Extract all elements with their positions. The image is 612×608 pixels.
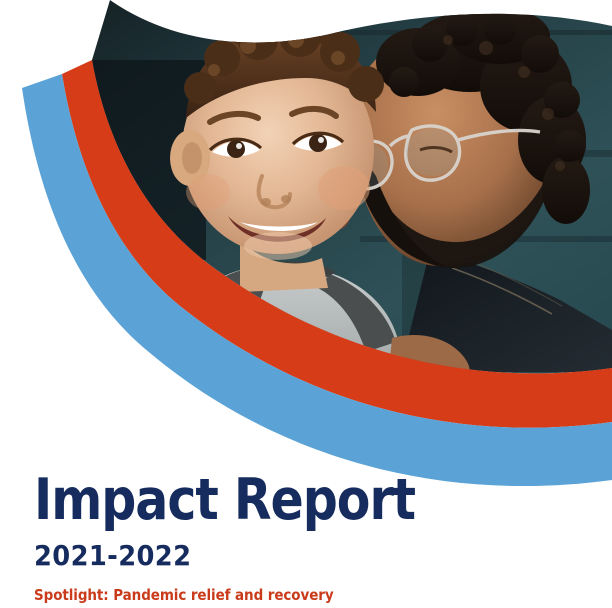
report-years: 2021-2022 <box>34 542 549 570</box>
cover-title-block: Impact Report 2021-2022 Spotlight: Pande… <box>34 472 594 603</box>
report-spotlight: Spotlight: Pandemic relief and recovery <box>34 588 538 603</box>
report-cover-page: Impact Report 2021-2022 Spotlight: Pande… <box>0 0 612 608</box>
cover-artwork-svg <box>0 0 612 520</box>
page-title: Impact Report <box>34 472 516 529</box>
cover-artwork <box>0 0 612 520</box>
